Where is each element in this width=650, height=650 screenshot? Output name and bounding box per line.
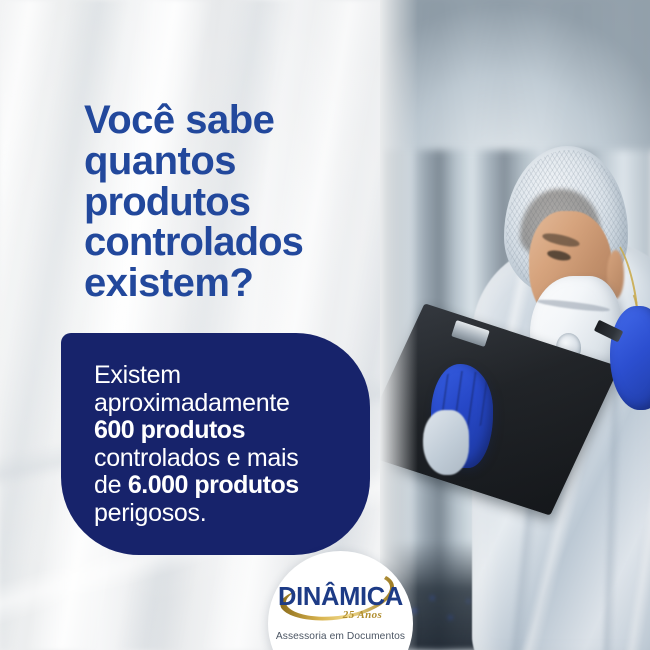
logo-lockup: DINÂMICA 25 Anos Assessoria em Documento… (268, 567, 413, 650)
answer-seg: controlados e mais (94, 444, 298, 472)
answer-line-6: perigosos. (94, 500, 356, 528)
logo-tagline: Assessoria em Documentos (268, 631, 413, 642)
headline-question: Você sabe quantos produtos controlados e… (84, 100, 384, 304)
answer-seg-dangerous-count: 6.000 produtos (128, 471, 299, 499)
poster-canvas: Você sabe quantos produtos controlados e… (0, 0, 650, 650)
headline-line-5: existem? (84, 263, 384, 304)
headline-line-1: Você sabe (84, 100, 384, 141)
headline-line-2: quantos (84, 141, 384, 182)
answer-line-4: controlados e mais (94, 445, 356, 473)
worker-photo (380, 0, 650, 650)
answer-card: Existem aproximadamente 600 produtos con… (61, 333, 370, 555)
answer-line-3: 600 produtos (94, 417, 356, 445)
headline-line-3: produtos (84, 182, 384, 223)
answer-seg: Existem (94, 361, 181, 389)
logo-brand-name: DINÂMICA (268, 583, 413, 612)
answer-seg: perigosos. (94, 499, 206, 527)
answer-line-2: aproximadamente (94, 390, 356, 418)
answer-card-text: Existem aproximadamente 600 produtos con… (94, 362, 356, 527)
answer-line-5: de 6.000 produtos (94, 472, 356, 500)
headline-line-4: controlados (84, 222, 384, 263)
logo-anniversary: 25 Anos (268, 609, 413, 621)
answer-seg: de (94, 471, 128, 499)
answer-line-1: Existem (94, 362, 356, 390)
photo-color-overlay (380, 0, 650, 650)
answer-seg-controlled-count: 600 produtos (94, 416, 245, 444)
answer-seg: aproximadamente (94, 389, 290, 417)
photo-left-feather (380, 0, 418, 650)
